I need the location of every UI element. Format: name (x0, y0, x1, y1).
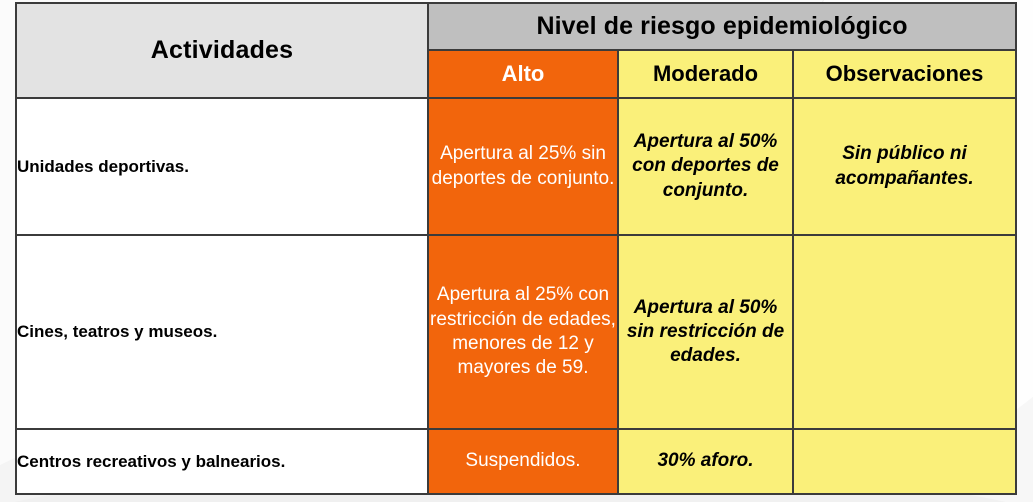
column-header-observaciones: Observaciones (793, 50, 1016, 98)
table-header: Actividades Nivel de riesgo epidemiológi… (16, 3, 1016, 98)
cell-observaciones: Sin público ni acompañantes. (793, 98, 1016, 235)
table-row: Unidades deportivas. Apertura al 25% sin… (16, 98, 1016, 235)
column-group-header-nivel-de-riesgo: Nivel de riesgo epidemiológico (428, 3, 1016, 50)
cell-activity: Unidades deportivas. (16, 98, 428, 235)
table-row: Centros recreativos y balnearios. Suspen… (16, 429, 1016, 494)
table-body: Unidades deportivas. Apertura al 25% sin… (16, 98, 1016, 494)
cell-observaciones (793, 429, 1016, 494)
cell-activity: Centros recreativos y balnearios. (16, 429, 428, 494)
risk-level-table-container: Actividades Nivel de riesgo epidemiológi… (15, 2, 1015, 493)
column-header-actividades: Actividades (16, 3, 428, 98)
column-header-alto: Alto (428, 50, 618, 98)
table-row: Cines, teatros y museos. Apertura al 25%… (16, 235, 1016, 429)
table-header-row-group: Actividades Nivel de riesgo epidemiológi… (16, 3, 1016, 50)
cell-observaciones (793, 235, 1016, 429)
cell-alto: Apertura al 25% sin deportes de conjunto… (428, 98, 618, 235)
cell-alto: Suspendidos. (428, 429, 618, 494)
cell-moderado: Apertura al 50% con deportes de conjunto… (618, 98, 793, 235)
cell-activity: Cines, teatros y museos. (16, 235, 428, 429)
cell-moderado: Apertura al 50% sin restricción de edade… (618, 235, 793, 429)
cell-alto: Apertura al 25% con restricción de edade… (428, 235, 618, 429)
column-header-moderado: Moderado (618, 50, 793, 98)
risk-level-table: Actividades Nivel de riesgo epidemiológi… (15, 2, 1017, 495)
cell-moderado: 30% aforo. (618, 429, 793, 494)
